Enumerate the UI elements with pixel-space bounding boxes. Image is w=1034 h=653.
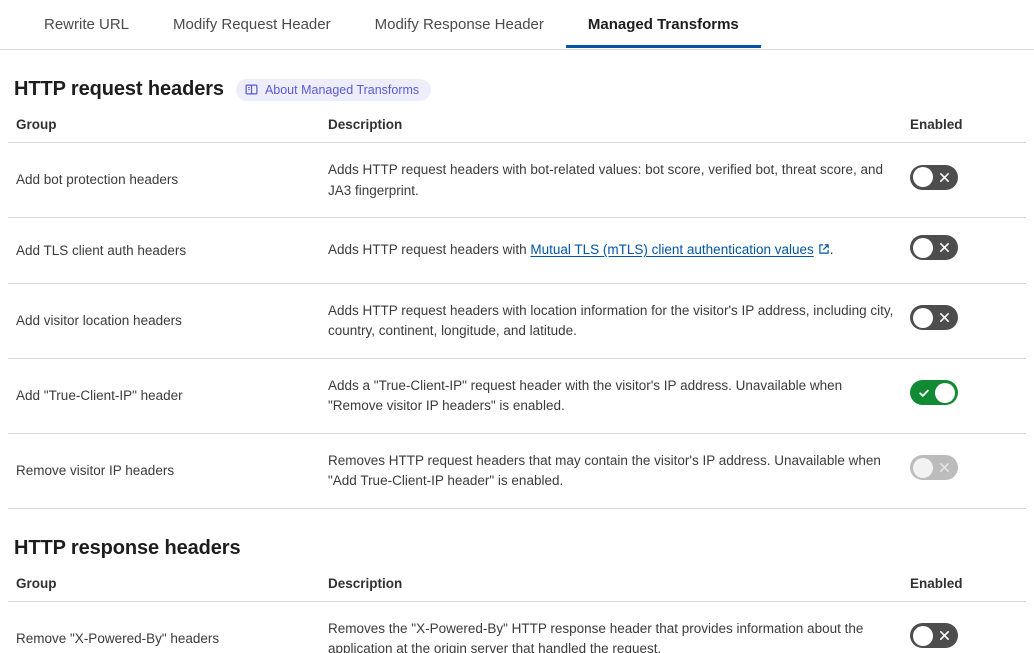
row-enabled-cell — [902, 283, 1026, 358]
column-header-enabled: Enabled — [902, 117, 1026, 143]
close-icon — [939, 623, 950, 648]
row-group-label: Remove visitor IP headers — [8, 433, 320, 508]
toggle-remove-visitor-ip-headers — [910, 455, 958, 480]
table-row: Add bot protection headers Adds HTTP req… — [8, 143, 1026, 218]
table-row: Add visitor location headers Adds HTTP r… — [8, 283, 1026, 358]
mtls-client-auth-link[interactable]: Mutual TLS (mTLS) client authentication … — [530, 242, 813, 257]
column-header-description: Description — [320, 576, 902, 602]
close-icon — [939, 165, 950, 190]
row-enabled-cell — [902, 218, 1026, 284]
external-link-icon — [818, 241, 830, 262]
toggle-knob — [935, 383, 955, 403]
toggle-add-bot-protection-headers[interactable] — [910, 165, 958, 190]
mtls-link-label: Mutual TLS (mTLS) client authentication … — [530, 242, 813, 257]
toggle-knob — [913, 238, 933, 258]
tab-managed-transforms[interactable]: Managed Transforms — [566, 0, 761, 48]
row-description: Adds HTTP request headers with bot-relat… — [320, 143, 902, 218]
page-title-request-headers: HTTP request headers — [14, 78, 224, 101]
row-group-label: Remove "X-Powered-By" headers — [8, 601, 320, 653]
check-icon — [918, 380, 930, 405]
row-group-label: Add bot protection headers — [8, 143, 320, 218]
tab-rewrite-url[interactable]: Rewrite URL — [22, 0, 151, 48]
toggle-add-true-client-ip-header[interactable] — [910, 380, 958, 405]
page-content: HTTP request headers About Managed Trans… — [0, 50, 1034, 653]
row-enabled-cell — [902, 601, 1026, 653]
row-description: Removes HTTP request headers that may co… — [320, 433, 902, 508]
close-icon — [939, 305, 950, 330]
tab-modify-response-header[interactable]: Modify Response Header — [353, 0, 566, 48]
about-managed-transforms-label: About Managed Transforms — [265, 83, 419, 97]
table-row: Add TLS client auth headers Adds HTTP re… — [8, 218, 1026, 284]
toggle-knob — [913, 626, 933, 646]
toggle-knob — [913, 458, 933, 478]
column-header-enabled: Enabled — [902, 576, 1026, 602]
row-enabled-cell — [902, 358, 1026, 433]
table-row: Remove visitor IP headers Removes HTTP r… — [8, 433, 1026, 508]
row-enabled-cell — [902, 433, 1026, 508]
row-enabled-cell — [902, 143, 1026, 218]
column-header-group: Group — [8, 576, 320, 602]
row-description: Removes the "X-Powered-By" HTTP response… — [320, 601, 902, 653]
row-description: Adds HTTP request headers with Mutual TL… — [320, 218, 902, 284]
page-title-response-headers: HTTP response headers — [14, 537, 241, 560]
row-group-label: Add TLS client auth headers — [8, 218, 320, 284]
close-icon — [939, 235, 950, 260]
toggle-add-tls-client-auth-headers[interactable] — [910, 235, 958, 260]
book-icon — [245, 83, 258, 96]
toggle-add-visitor-location-headers[interactable] — [910, 305, 958, 330]
toggle-remove-x-powered-by-headers[interactable] — [910, 623, 958, 648]
toggle-knob — [913, 308, 933, 328]
managed-transforms-request-table: Group Description Enabled Add bot protec… — [8, 117, 1026, 509]
row-description: Adds a "True-Client-IP" request header w… — [320, 358, 902, 433]
table-row: Remove "X-Powered-By" headers Removes th… — [8, 601, 1026, 653]
table-row: Add "True-Client-IP" header Adds a "True… — [8, 358, 1026, 433]
managed-transforms-response-table: Group Description Enabled Remove "X-Powe… — [8, 576, 1026, 653]
about-managed-transforms-badge[interactable]: About Managed Transforms — [236, 79, 431, 101]
column-header-group: Group — [8, 117, 320, 143]
row-description: Adds HTTP request headers with location … — [320, 283, 902, 358]
tab-modify-request-header[interactable]: Modify Request Header — [151, 0, 353, 48]
close-icon — [939, 455, 950, 480]
toggle-knob — [913, 167, 933, 187]
row-group-label: Add visitor location headers — [8, 283, 320, 358]
section-http-request-headers: HTTP request headers About Managed Trans… — [8, 50, 1026, 509]
column-header-description: Description — [320, 117, 902, 143]
table-header-row: Group Description Enabled — [8, 576, 1026, 602]
section-header-request: HTTP request headers About Managed Trans… — [8, 50, 1026, 117]
row-description-suffix: . — [830, 242, 834, 257]
table-header-row: Group Description Enabled — [8, 117, 1026, 143]
tab-bar: Rewrite URL Modify Request Header Modify… — [0, 0, 1034, 50]
row-description-prefix: Adds HTTP request headers with — [328, 242, 530, 257]
section-http-response-headers: HTTP response headers Group Description … — [8, 509, 1026, 653]
section-header-response: HTTP response headers — [8, 509, 1026, 576]
row-group-label: Add "True-Client-IP" header — [8, 358, 320, 433]
